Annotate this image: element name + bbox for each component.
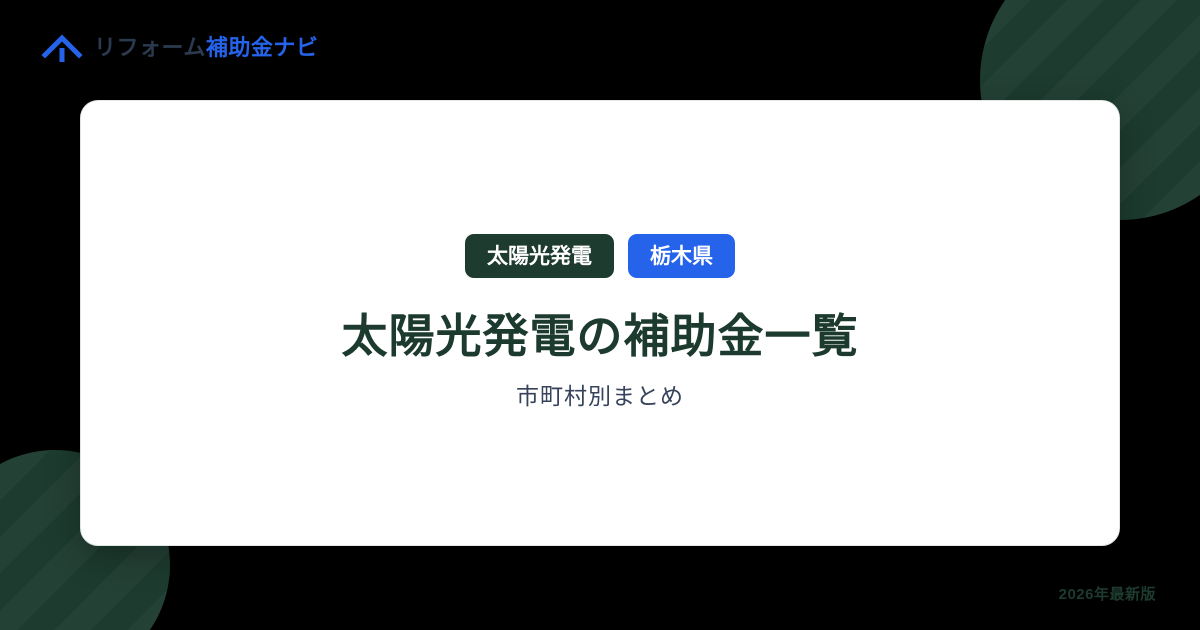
- brand-name-primary: リフォーム: [94, 35, 206, 60]
- arrow-up-icon: [40, 28, 84, 68]
- edition-note: 2026年最新版: [1059, 587, 1156, 602]
- brand-name: リフォーム補助金ナビ: [94, 37, 318, 59]
- og-image-canvas: リフォーム補助金ナビ 太陽光発電 栃木県 太陽光発電の補助金一覧 市町村別まとめ…: [0, 0, 1200, 630]
- badge-category[interactable]: 太陽光発電: [465, 234, 614, 278]
- brand-name-accent: 補助金ナビ: [206, 35, 319, 60]
- page-title: 太陽光発電の補助金一覧: [342, 308, 859, 366]
- page-subtitle: 市町村別まとめ: [516, 382, 684, 412]
- badge-region[interactable]: 栃木県: [628, 234, 735, 278]
- brand-logo[interactable]: リフォーム補助金ナビ: [40, 28, 318, 68]
- badge-group: 太陽光発電 栃木県: [465, 234, 735, 278]
- hero-card: 太陽光発電 栃木県 太陽光発電の補助金一覧 市町村別まとめ: [80, 100, 1120, 546]
